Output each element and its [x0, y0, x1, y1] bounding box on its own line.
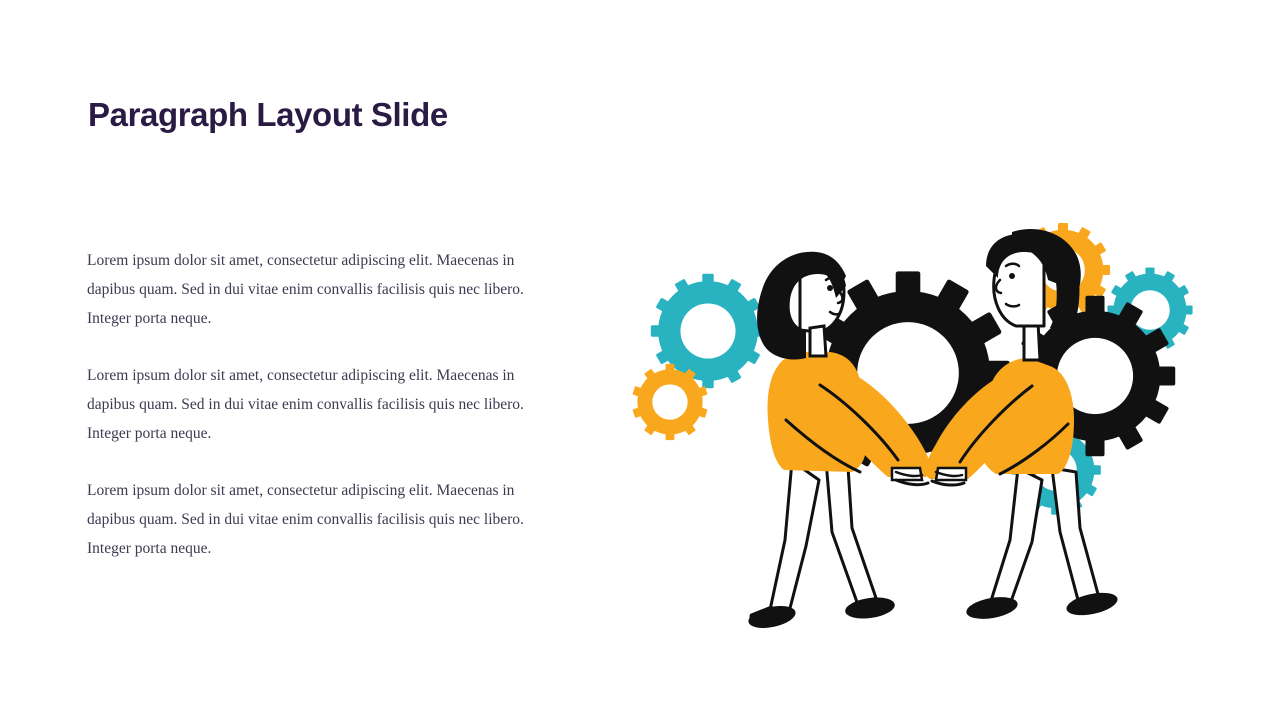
two-people-carrying-gear-illustration — [620, 180, 1240, 640]
man-hand — [932, 468, 966, 485]
paragraph-2: Lorem ipsum dolor sit amet, consectetur … — [87, 361, 539, 448]
slide-canvas: Paragraph Layout Slide Lorem ipsum dolor… — [0, 0, 1280, 720]
page-title: Paragraph Layout Slide — [88, 96, 448, 134]
body-text-column: Lorem ipsum dolor sit amet, consectetur … — [87, 246, 539, 563]
paragraph-3: Lorem ipsum dolor sit amet, consectetur … — [87, 476, 539, 563]
paragraph-1: Lorem ipsum dolor sit amet, consectetur … — [87, 246, 539, 333]
